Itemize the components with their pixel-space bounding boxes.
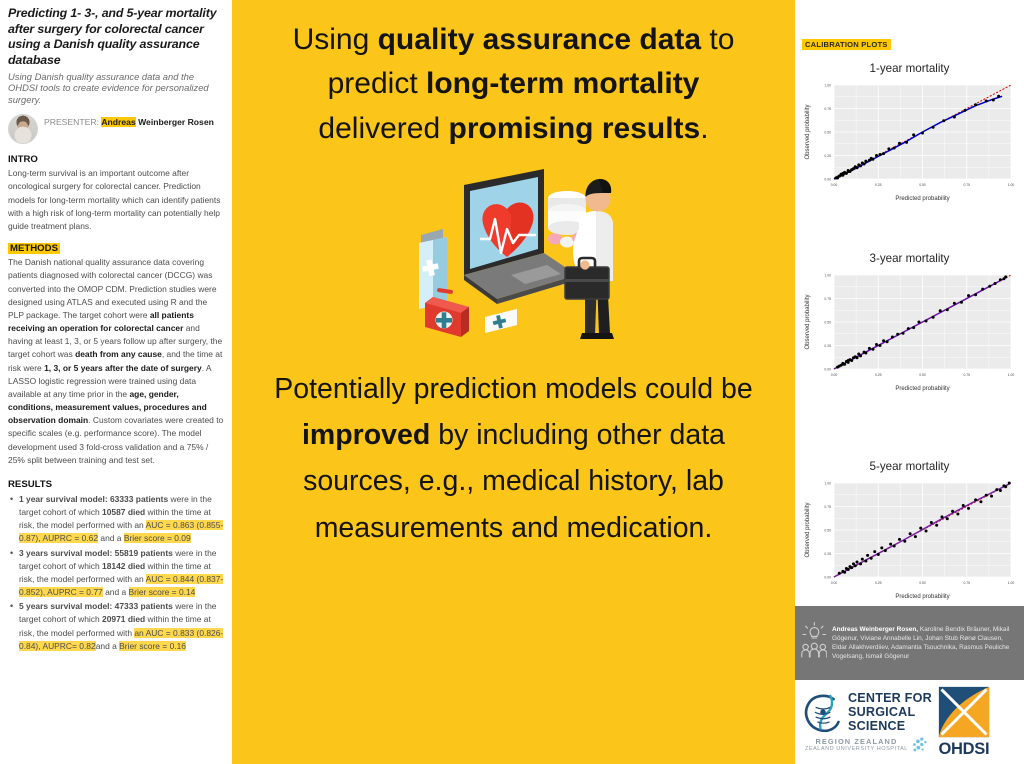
presenter-block: PRESENTER: Andreas Weinberger Rosen xyxy=(8,114,224,144)
left-text-column: Predicting 1- 3-, and 5-year mortality a… xyxy=(0,0,232,764)
svg-text:0.00: 0.00 xyxy=(831,581,838,585)
svg-text:Observed probability: Observed probability xyxy=(805,502,811,557)
svg-text:0.50: 0.50 xyxy=(824,320,831,324)
calibration-plot-svg: 0.000.250.500.751.000.000.250.500.751.00… xyxy=(800,267,1019,395)
css-wordmark: CENTER FOR SURGICAL SCIENCE xyxy=(848,692,932,734)
calibration-plot-svg: 0.000.250.500.751.000.000.250.500.751.00… xyxy=(800,475,1019,603)
svg-text:0.00: 0.00 xyxy=(824,177,831,181)
methods-heading: METHODS xyxy=(8,243,60,254)
svg-text:0.75: 0.75 xyxy=(824,107,831,111)
page-subtitle: Using Danish quality assurance data and … xyxy=(8,71,224,107)
svg-text:1.00: 1.00 xyxy=(1008,581,1015,585)
intro-body: Long-term survival is an important outco… xyxy=(8,167,224,233)
conclusion-t1: Potentially prediction models could be xyxy=(274,373,752,405)
results-list: 1 year survival model: 63333 patients we… xyxy=(8,493,224,653)
result-model: 1 year survival model: 63333 patients xyxy=(19,494,168,504)
svg-text:1.00: 1.00 xyxy=(1008,373,1015,377)
headline-t3: delivered xyxy=(318,112,448,145)
svg-text:0.25: 0.25 xyxy=(875,183,882,187)
chart-title: 1-year mortality xyxy=(795,62,1024,75)
svg-text:Observed probability: Observed probability xyxy=(805,104,811,159)
svg-text:1.00: 1.00 xyxy=(824,83,831,87)
right-charts-column: CALIBRATION PLOTS 1-year mortality 0.000… xyxy=(795,0,1024,764)
svg-text:0.75: 0.75 xyxy=(963,183,970,187)
center-for-surgical-science-logo: CENTER FOR SURGICAL SCIENCE REGION ZEALA… xyxy=(801,691,932,753)
svg-text:0.00: 0.00 xyxy=(831,373,838,377)
result-deaths: 20971 died xyxy=(102,614,145,624)
svg-text:1.00: 1.00 xyxy=(824,481,831,485)
svg-text:1.00: 1.00 xyxy=(824,273,831,277)
headline: Using quality assurance data to predict … xyxy=(264,18,764,151)
svg-text:0.75: 0.75 xyxy=(824,297,831,301)
svg-text:0.00: 0.00 xyxy=(824,575,831,579)
css-mark-icon xyxy=(801,691,845,735)
avatar xyxy=(8,114,38,144)
calibration-plot-svg: 0.000.250.500.751.000.000.250.500.751.00… xyxy=(800,77,1019,205)
chart-1-year: 1-year mortality 0.000.250.500.751.000.0… xyxy=(795,62,1024,205)
result-brier: Brier score = 0.09 xyxy=(124,533,191,543)
chart-canvas-3: 0.000.250.500.751.000.000.250.500.751.00… xyxy=(795,475,1024,603)
svg-text:0.25: 0.25 xyxy=(875,581,882,585)
svg-text:1.00: 1.00 xyxy=(1008,183,1015,187)
authors-list: Andreas Weinberger Rosen, Karoline Bendi… xyxy=(832,625,1019,662)
logos-bar: CENTER FOR SURGICAL SCIENCE REGION ZEALA… xyxy=(795,680,1024,764)
chart-title: 3-year mortality xyxy=(795,252,1024,265)
result-deaths: 18142 died xyxy=(102,561,145,571)
methods-body: The Danish national quality assurance da… xyxy=(8,256,224,467)
result-mid3: and a xyxy=(103,587,129,597)
conclusion: Potentially prediction models could be i… xyxy=(254,366,774,551)
region-zealand-line-2: ZEALAND UNIVERSITY HOSPITAL xyxy=(805,746,908,752)
ohdsi-wordmark: OHDSI xyxy=(938,740,989,759)
presenter-lastname: Weinberger Rosen xyxy=(138,117,214,127)
list-item: 3 years survival model: 55819 patients w… xyxy=(8,547,224,600)
svg-text:0.25: 0.25 xyxy=(824,154,831,158)
ohdsi-mark-icon xyxy=(938,686,990,738)
headline-t4: . xyxy=(700,112,708,145)
svg-text:0.25: 0.25 xyxy=(824,344,831,348)
region-zealand-dots-icon xyxy=(911,736,928,753)
chart-5-year: 5-year mortality 0.000.250.500.751.000.0… xyxy=(795,460,1024,603)
list-item: 1 year survival model: 63333 patients we… xyxy=(8,493,224,546)
ohdsi-logo: OHDSI xyxy=(938,686,990,759)
conclusion-b1: improved xyxy=(302,419,430,451)
headline-b3: promising results xyxy=(449,112,701,145)
css-line-3: SCIENCE xyxy=(848,720,932,734)
svg-text:0.00: 0.00 xyxy=(824,367,831,371)
presenter-label: PRESENTER: xyxy=(44,117,99,127)
svg-text:0.00: 0.00 xyxy=(831,183,838,187)
center-highlight-panel: Using quality assurance data to predict … xyxy=(232,0,795,764)
headline-t1: Using xyxy=(293,23,378,56)
result-deaths: 10587 died xyxy=(102,507,145,517)
chart-3-year: 3-year mortality 0.000.250.500.751.000.0… xyxy=(795,252,1024,395)
svg-text:0.50: 0.50 xyxy=(824,528,831,532)
svg-text:0.50: 0.50 xyxy=(919,581,926,585)
result-model: 3 years survival model: 55819 patients xyxy=(19,548,173,558)
author-lead: Andreas Weinberger Rosen, xyxy=(832,626,918,633)
svg-text:0.50: 0.50 xyxy=(919,373,926,377)
page-title: Predicting 1- 3-, and 5-year mortality a… xyxy=(8,6,224,69)
intro-heading: INTRO xyxy=(8,154,38,165)
svg-text:0.25: 0.25 xyxy=(824,552,831,556)
svg-text:Observed probability: Observed probability xyxy=(805,294,811,349)
chart-title: 5-year mortality xyxy=(795,460,1024,473)
svg-text:Predicted probability: Predicted probability xyxy=(895,196,949,202)
css-line-2: SURGICAL xyxy=(848,706,932,720)
result-mid3: and a xyxy=(98,533,124,543)
headline-b1: quality assurance data xyxy=(378,23,701,56)
chart-canvas-2: 0.000.250.500.751.000.000.250.500.751.00… xyxy=(795,267,1024,395)
svg-text:Predicted probability: Predicted probability xyxy=(895,386,949,392)
methods-b3: 1, 3, or 5 years after the date of surge… xyxy=(44,363,202,373)
presenter-text: PRESENTER: Andreas Weinberger Rosen xyxy=(44,114,214,128)
list-item: 5 years survival model: 47333 patients w… xyxy=(8,600,224,653)
team-idea-icon xyxy=(801,621,827,666)
calibration-plots-tag: CALIBRATION PLOTS xyxy=(802,39,891,50)
headline-b2: long-term mortality xyxy=(426,67,699,100)
svg-text:0.75: 0.75 xyxy=(824,505,831,509)
result-model: 5 years survival model: 47333 patients xyxy=(19,601,173,611)
poster-canvas: Predicting 1- 3-, and 5-year mortality a… xyxy=(0,0,1024,764)
methods-b2: death from any cause xyxy=(75,349,162,359)
presenter-firstname: Andreas xyxy=(101,117,135,127)
chart-canvas-1: 0.000.250.500.751.000.000.250.500.751.00… xyxy=(795,77,1024,205)
svg-text:Predicted probability: Predicted probability xyxy=(895,594,949,600)
authors-bar: Andreas Weinberger Rosen, Karoline Bendi… xyxy=(795,606,1024,680)
svg-text:0.50: 0.50 xyxy=(824,130,831,134)
results-heading: RESULTS xyxy=(8,479,52,490)
svg-text:0.50: 0.50 xyxy=(919,183,926,187)
svg-text:0.25: 0.25 xyxy=(875,373,882,377)
region-zealand-line-1: REGION ZEALAND xyxy=(805,737,908,746)
result-mid3: and a xyxy=(96,641,119,651)
svg-text:0.75: 0.75 xyxy=(963,373,970,377)
medical-isometric-icon xyxy=(389,157,639,352)
svg-text:0.75: 0.75 xyxy=(963,581,970,585)
medical-illustration xyxy=(389,157,639,352)
result-brier: Brier score = 0.16 xyxy=(119,641,186,651)
result-brier: Brier score = 0.14 xyxy=(129,587,196,597)
css-line-1: CENTER FOR xyxy=(848,692,932,706)
